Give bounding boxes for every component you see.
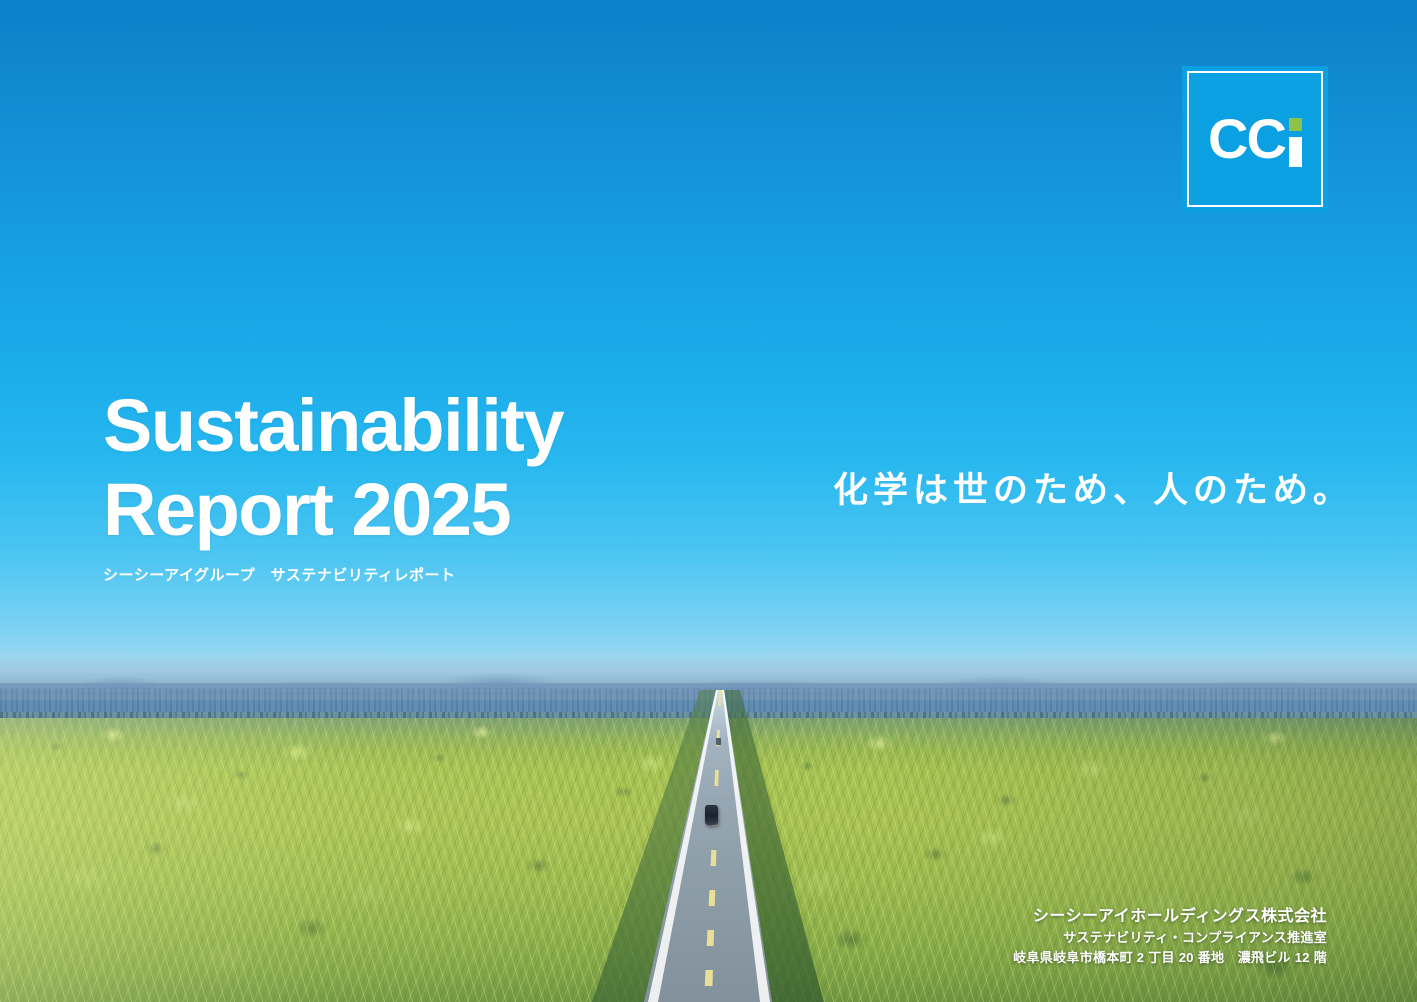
logo-i-dot-icon [1289,118,1302,131]
page-title-line-2: Report 2025 [103,468,563,552]
vehicle-on-road [705,805,718,825]
logo-letter-i-icon [1289,111,1302,167]
sustainability-report-cover: Sustainability Report 2025 シーシーアイグループ サス… [0,0,1417,1002]
distant-vehicle [716,738,721,745]
company-name: シーシーアイホールディングス株式会社 [1013,906,1327,928]
company-address-block: シーシーアイホールディングス株式会社 サステナビリティ・コンプライアンス推進室 … [1013,906,1327,968]
cci-logo: CC [1182,66,1328,212]
corporate-tagline: 化学は世のため、人のため。 [826,462,1360,513]
company-department: サステナビリティ・コンプライアンス推進室 [1013,928,1327,948]
page-subtitle: シーシーアイグループ サステナビリティレポート [103,564,563,585]
distant-mountain-ridge [0,660,1417,690]
logo-letters-cc: CC [1208,111,1285,167]
company-street-address: 岐阜県岐阜市橋本町 2 丁目 20 番地 濃飛ビル 12 階 [1013,948,1327,968]
logo-i-stem-icon [1289,137,1302,167]
page-title-line-1: Sustainability [103,384,563,468]
logo-wordmark: CC [1182,111,1328,167]
cover-title-block: Sustainability Report 2025 シーシーアイグループ サス… [103,384,563,585]
